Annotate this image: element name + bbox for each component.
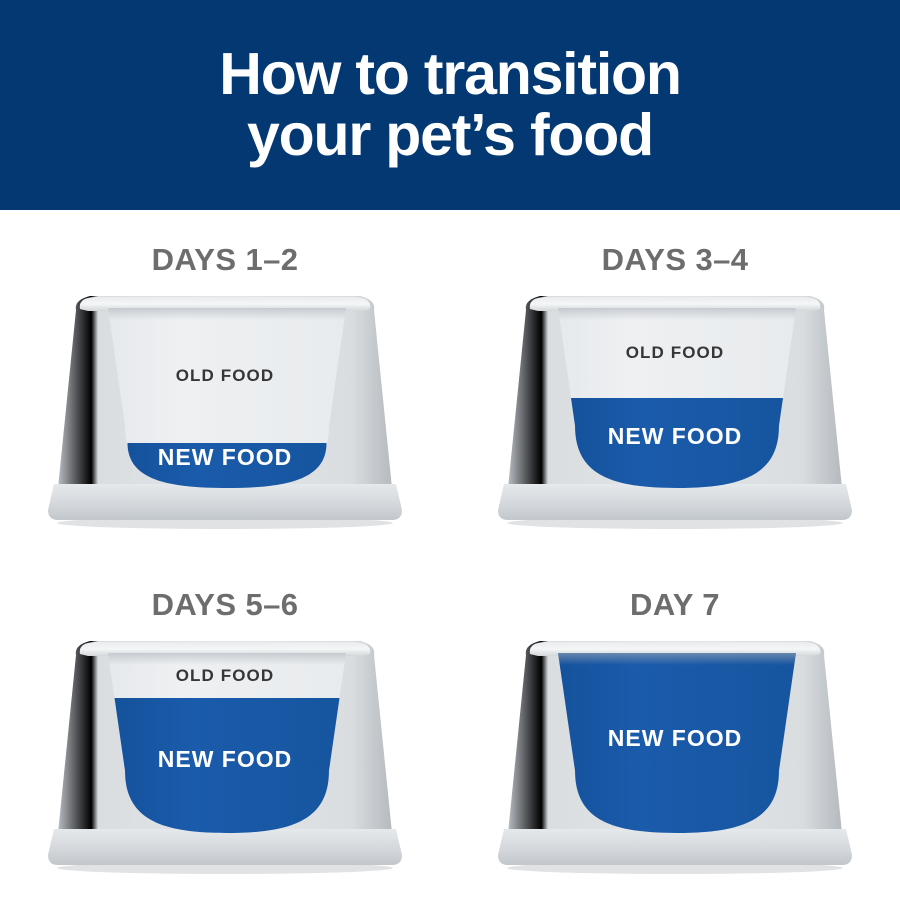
- header-banner: How to transition your pet’s food: [0, 0, 900, 210]
- new-food-fill: [558, 653, 796, 833]
- bowl-illustration: [46, 292, 404, 532]
- new-food-fill: [571, 398, 783, 488]
- stage-card-days-3-4: DAYS 3–4: [450, 210, 900, 555]
- new-food-fill: [115, 698, 340, 833]
- stage-label-days-5-6: DAYS 5–6: [152, 587, 299, 623]
- stage-label-day-7: DAY 7: [630, 587, 720, 623]
- food-bowl-days-5-6: OLD FOODNEW FOOD: [46, 637, 404, 877]
- stage-label-days-3-4: DAYS 3–4: [602, 242, 749, 278]
- food-bowl-days-1-2: OLD FOODNEW FOOD: [46, 292, 404, 532]
- bowl-illustration: [46, 637, 404, 877]
- bowl-illustration: [496, 637, 854, 877]
- stage-card-days-1-2: DAYS 1–2: [0, 210, 450, 555]
- stage-card-days-5-6: DAYS 5–6: [0, 555, 450, 900]
- transition-stages-grid: DAYS 1–2: [0, 210, 900, 900]
- infographic-page: How to transition your pet’s food DAYS 1…: [0, 0, 900, 900]
- stage-card-day-7: DAY 7: [450, 555, 900, 900]
- food-bowl-day-7: NEW FOOD: [496, 637, 854, 877]
- page-title: How to transition your pet’s food: [179, 44, 720, 166]
- food-bowl-days-3-4: OLD FOODNEW FOOD: [496, 292, 854, 532]
- stage-label-days-1-2: DAYS 1–2: [152, 242, 299, 278]
- bowl-illustration: [496, 292, 854, 532]
